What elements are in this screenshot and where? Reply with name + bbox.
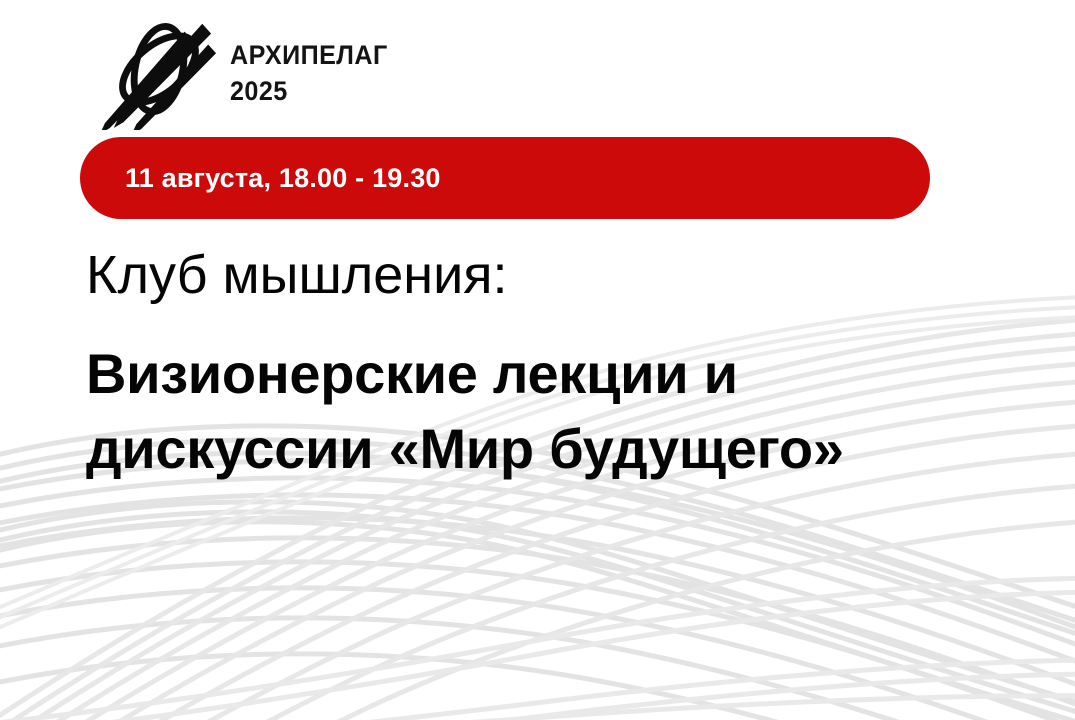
event-date-badge: 11 августа, 18.00 - 19.30 xyxy=(80,137,930,219)
event-title-line-1: Визионерские лекции и xyxy=(86,337,844,411)
event-date-text: 11 августа, 18.00 - 19.30 xyxy=(125,163,441,194)
event-headings: Клуб мышления: Визионерские лекции и дис… xyxy=(86,248,844,486)
brand-logo-wordmark: АРХИПЕЛАГ 2025 xyxy=(230,42,400,105)
event-title-line-2: дискуссии «Мир будущего» xyxy=(86,412,844,486)
event-kicker: Клуб мышления: xyxy=(86,248,844,303)
brand-year: 2025 xyxy=(230,78,388,105)
archipelago-atom-logo-icon xyxy=(100,12,218,130)
brand-logo: АРХИПЕЛАГ 2025 xyxy=(100,12,400,130)
event-title: Визионерские лекции и дискуссии «Мир буд… xyxy=(86,337,844,486)
event-poster: АРХИПЕЛАГ 2025 11 августа, 18.00 - 19.30… xyxy=(0,0,1075,720)
brand-name: АРХИПЕЛАГ xyxy=(230,42,388,69)
